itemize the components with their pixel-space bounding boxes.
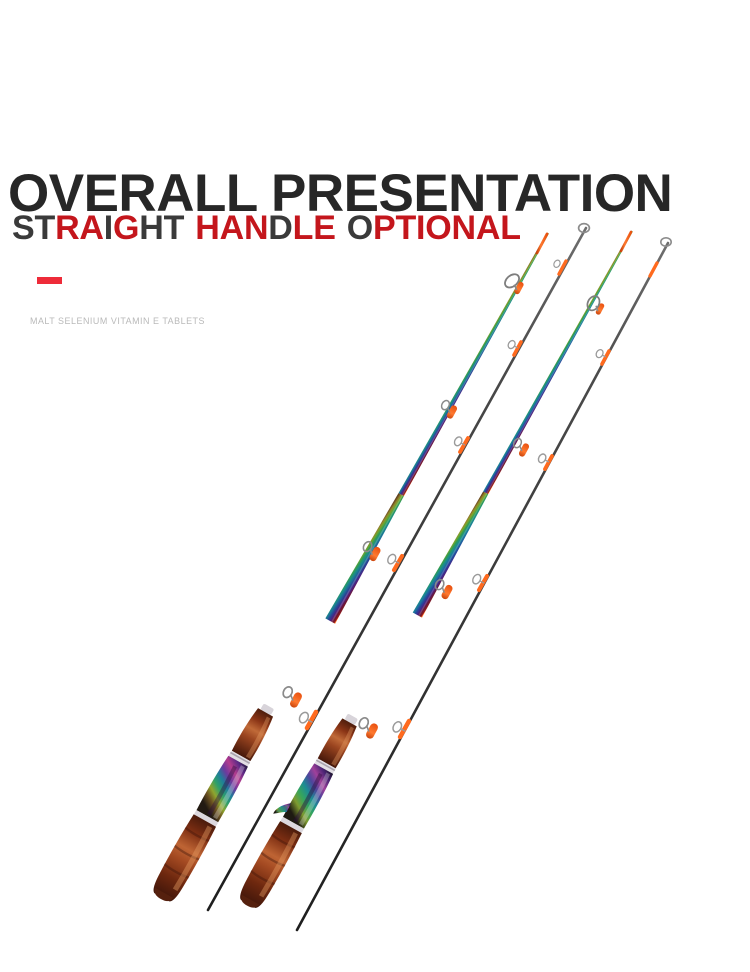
- subtitle-letter-4: I: [104, 209, 113, 247]
- subtitle-letter-14: E: [313, 209, 335, 247]
- rod-1-guides: [279, 269, 528, 709]
- subtitle-letter-2: R: [55, 209, 79, 247]
- subtitle-letter-3: A: [79, 209, 103, 247]
- subtitle-letter-18: T: [395, 209, 416, 247]
- red-divider-bar: [37, 277, 62, 284]
- subtitle-letter-7: T: [164, 209, 185, 247]
- rod-2-tip-guide: [579, 224, 590, 233]
- rod-2-thin-dark: [208, 224, 589, 910]
- subtitle-letter-16: O: [347, 209, 373, 247]
- subtitle-letter-12: D: [268, 209, 292, 247]
- subtitle-letter-23: L: [500, 209, 521, 247]
- rod-3-colorful-casting: [228, 228, 637, 912]
- caption-text: MALT SELENIUM VITAMIN E TABLETS: [30, 317, 205, 327]
- subtitle-letter-6: H: [139, 209, 163, 247]
- subtitle-letter-22: A: [476, 209, 500, 247]
- subtitle-letter-10: A: [220, 209, 244, 247]
- subtitle-letter-5: G: [113, 209, 139, 247]
- fishing-rods-illustration: [0, 0, 750, 972]
- subtitle-letter-19: I: [416, 209, 425, 247]
- subtitle-letter-1: T: [34, 209, 55, 247]
- product-banner: OVERALL PRESENTATION STRAIGHTHANDLEOPTIO…: [0, 0, 750, 972]
- page-subtitle: STRAIGHTHANDLEOPTIONAL: [12, 211, 521, 245]
- subtitle-letter-0: S: [12, 209, 34, 247]
- subtitle-letter-13: L: [293, 209, 314, 247]
- rod-4-guides: [391, 263, 657, 737]
- rod-4-thin-dark: [297, 238, 671, 930]
- subtitle-letter-20: O: [425, 209, 451, 247]
- subtitle-letter-17: P: [373, 209, 395, 247]
- rod-4-tip-guide: [661, 238, 671, 246]
- rod-1-colorful-spinning: [149, 230, 553, 906]
- subtitle-letter-9: H: [195, 209, 219, 247]
- subtitle-letter-11: N: [244, 209, 268, 247]
- rod-3-guides: [355, 294, 607, 740]
- rod-2-guides: [298, 259, 566, 728]
- subtitle-letter-21: N: [452, 209, 476, 247]
